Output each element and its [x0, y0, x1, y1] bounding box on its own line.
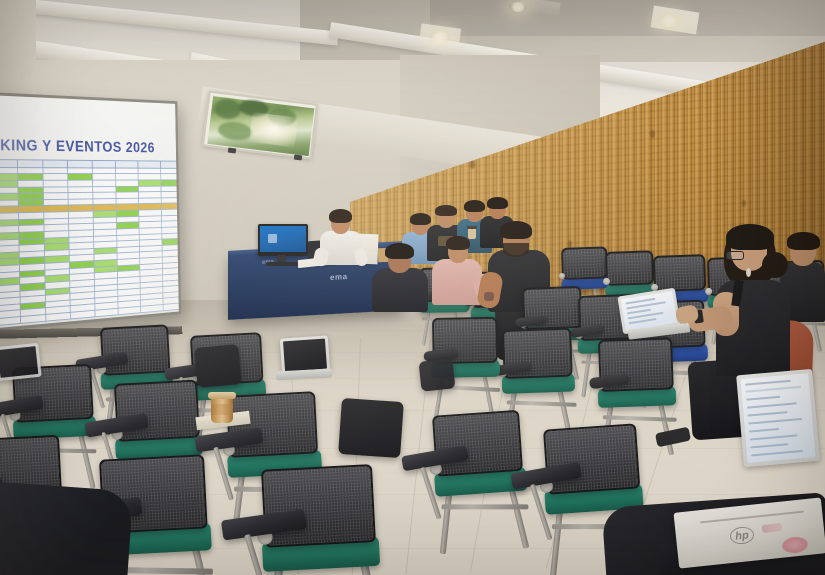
slide-table-cell: [71, 310, 95, 319]
slide-table-cell: [46, 312, 71, 321]
laptop-left-open: [0, 343, 42, 381]
attendee-black-tshirt-hair: [435, 205, 457, 216]
chair-backrest: [561, 246, 608, 280]
attendee-black-polo-hair: [500, 221, 532, 239]
projection-screen-surface: RANKING Y EVENTOS 2026: [0, 95, 179, 329]
chair-backrest: [114, 380, 200, 442]
attendee-far-right-hair: [787, 232, 820, 250]
monitor-base: [266, 262, 298, 266]
slide-table-cell: [20, 315, 46, 324]
laptop-display-right: [740, 373, 815, 463]
slide-spreadsheet-table: [0, 159, 179, 329]
presenter-hair: [329, 209, 352, 223]
desk-logo: ema: [330, 271, 366, 284]
wood-knot: [650, 130, 655, 138]
attendee-black-polo-beard: [503, 243, 529, 257]
conference-room-photo: RANKING Y EVENTOS 2026 ema ema: [0, 0, 825, 575]
bag-on-chair: [338, 398, 404, 458]
slide-table-cell: [0, 317, 20, 326]
laptop-display-dark: [283, 339, 327, 372]
slide-table-cell: [95, 308, 119, 316]
foreground-person-left: [0, 481, 133, 575]
attendee-dark-shirt-hair: [487, 197, 508, 209]
attendee-salmon-shirt-hair: [446, 236, 470, 250]
slide-table-header-cell: [92, 160, 116, 167]
ceiling-downlight-2: [657, 14, 681, 27]
chair-backrest: [261, 464, 376, 548]
attendee-blue-shirt-hair: [410, 213, 431, 225]
chair-backrest: [432, 410, 523, 477]
woman-glasses: [726, 251, 744, 260]
window-latch: [228, 148, 237, 154]
woman-earring: [746, 268, 751, 277]
wood-knot: [470, 160, 475, 169]
arm-tattoo: [484, 292, 494, 301]
slide-table-cell: [141, 305, 163, 313]
laptop-open-screen-right: [736, 369, 820, 467]
slide-table-cell: [0, 167, 17, 174]
slide-title: RANKING Y EVENTOS 2026: [0, 137, 173, 158]
projection-screen: RANKING Y EVENTOS 2026: [0, 92, 181, 332]
slide-table-cell: [118, 306, 141, 314]
monitor-window-icon: [268, 234, 277, 243]
window-latch: [294, 155, 303, 161]
slide-table-header-cell: [17, 160, 43, 168]
chair-leg-crossbar: [441, 504, 528, 509]
woman-hair-bun: [762, 252, 788, 278]
slide-table-cell: [163, 303, 179, 311]
slide-table-header-cell: [0, 160, 17, 168]
coffee-cup-held: [468, 228, 476, 239]
chair-backrest: [653, 254, 706, 292]
attendee-teal-shirt-hair: [464, 200, 485, 212]
attendee-dark-front-hair: [385, 243, 414, 259]
ceiling-downlight-3: [509, 2, 527, 12]
slide-table-header-cell: [68, 160, 92, 167]
laptop-left-display: [0, 346, 38, 378]
coffee-cup-sleeve: [211, 404, 233, 415]
window-glare: [249, 112, 298, 147]
chair-backrest: [100, 324, 170, 375]
woman-hair: [726, 224, 774, 250]
slide-table-header-cell: [115, 161, 138, 168]
chair-backrest: [605, 250, 654, 286]
chair-backrest: [543, 423, 640, 494]
bag-small: [419, 358, 456, 391]
ceiling-panel-far: [430, 0, 825, 36]
attendee-dark-front-torso: [372, 268, 428, 312]
slide-table-header-cell: [43, 160, 68, 168]
ceiling-downlight-1: [429, 31, 451, 44]
wood-knot: [742, 200, 746, 207]
backpack-black: [194, 344, 241, 388]
coffee-cup-lid-foreground: [208, 392, 236, 399]
coffee-cup-lid: [467, 226, 477, 229]
monitor-screen: [260, 226, 306, 252]
